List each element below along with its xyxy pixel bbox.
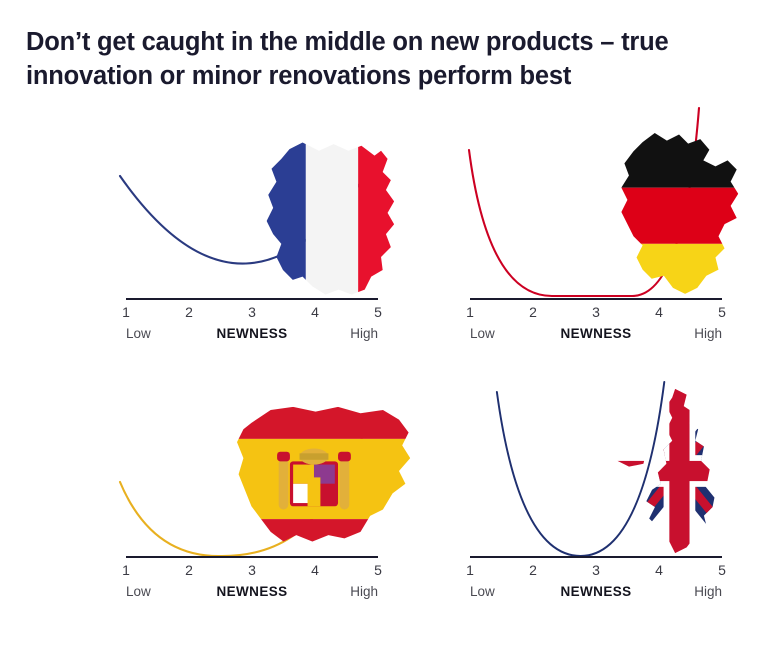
tick-label: 1 xyxy=(109,304,143,320)
tick-label: 2 xyxy=(516,562,550,578)
axis-high-label: High xyxy=(350,326,378,341)
plot-area-spain xyxy=(112,386,380,556)
axis-title-label: NEWNESS xyxy=(216,326,287,341)
tick-label: 5 xyxy=(705,562,739,578)
plot-area-germany xyxy=(456,128,724,298)
x-axis-line-germany xyxy=(470,298,722,300)
axis-low-label: Low xyxy=(470,584,495,599)
axis-title-label: NEWNESS xyxy=(216,584,287,599)
tick-label: 4 xyxy=(642,304,676,320)
tick-label: 3 xyxy=(235,562,269,578)
tick-label: 4 xyxy=(298,562,332,578)
uk-flag-map xyxy=(544,386,636,504)
x-axis-ticks-germany: 1 2 3 4 5 xyxy=(470,304,722,324)
tick-label: 1 xyxy=(109,562,143,578)
axis-labels-spain: Low NEWNESS High xyxy=(126,584,378,604)
axis-labels-germany: Low NEWNESS High xyxy=(470,326,722,346)
axis-low-label: Low xyxy=(126,584,151,599)
axis-high-label: High xyxy=(694,326,722,341)
axis-title-label: NEWNESS xyxy=(560,326,631,341)
tick-label: 5 xyxy=(361,304,395,320)
chart-grid: 1 2 3 4 5 Low NEWNESS High xyxy=(0,118,780,638)
chart-panel-uk: 1 2 3 4 5 Low NEWNESS High xyxy=(456,386,780,611)
x-axis-line-france xyxy=(126,298,378,300)
plot-area-france xyxy=(112,128,380,298)
page-title: Don’t get caught in the middle on new pr… xyxy=(26,26,766,93)
tick-label: 4 xyxy=(298,304,332,320)
axis-high-label: High xyxy=(350,584,378,599)
plot-area-uk xyxy=(456,386,724,556)
tick-label: 5 xyxy=(705,304,739,320)
axis-high-label: High xyxy=(694,584,722,599)
tick-label: 2 xyxy=(516,304,550,320)
tick-label: 3 xyxy=(235,304,269,320)
axis-labels-france: Low NEWNESS High xyxy=(126,326,378,346)
x-axis-ticks-uk: 1 2 3 4 5 xyxy=(470,562,722,582)
tick-label: 1 xyxy=(453,304,487,320)
spain-flag-map xyxy=(188,394,304,500)
x-axis-line-uk xyxy=(470,556,722,558)
x-axis-ticks-france: 1 2 3 4 5 xyxy=(126,304,378,324)
axis-low-label: Low xyxy=(470,326,495,341)
tick-label: 1 xyxy=(453,562,487,578)
germany-flag-map xyxy=(542,130,638,242)
tick-label: 4 xyxy=(642,562,676,578)
chart-panel-spain: 1 2 3 4 5 Low NEWNESS High xyxy=(112,386,452,611)
axis-title-label: NEWNESS xyxy=(560,584,631,599)
tick-label: 3 xyxy=(579,562,613,578)
tick-label: 2 xyxy=(172,562,206,578)
tick-label: 5 xyxy=(361,562,395,578)
axis-low-label: Low xyxy=(126,326,151,341)
tick-label: 3 xyxy=(579,304,613,320)
chart-panel-germany: 1 2 3 4 5 Low NEWNESS High xyxy=(456,128,780,353)
x-axis-line-spain xyxy=(126,556,378,558)
axis-labels-uk: Low NEWNESS High xyxy=(470,584,722,604)
chart-panel-france: 1 2 3 4 5 Low NEWNESS High xyxy=(112,128,452,353)
france-flag-map xyxy=(198,136,294,240)
x-axis-ticks-spain: 1 2 3 4 5 xyxy=(126,562,378,582)
tick-label: 2 xyxy=(172,304,206,320)
